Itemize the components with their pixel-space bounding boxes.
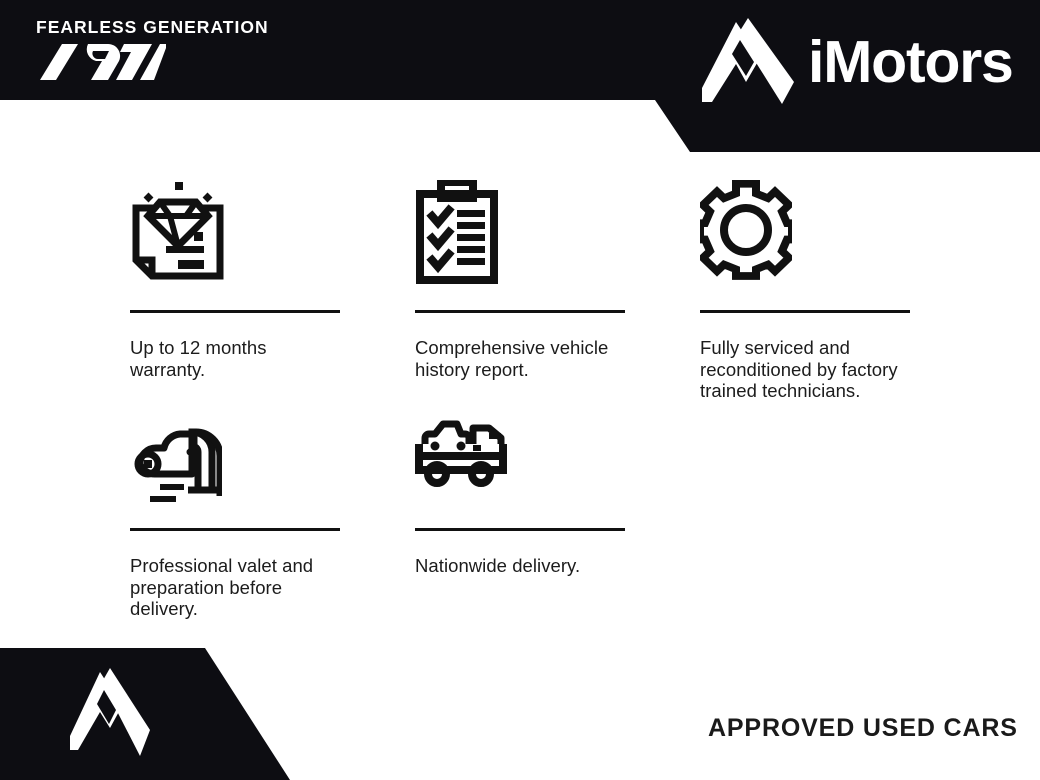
- feature-grid: Up to 12 months warranty.: [130, 180, 920, 598]
- feature-label: Professional valet and preparation befor…: [130, 555, 340, 620]
- feature-valet: Professional valet and preparation befor…: [130, 398, 340, 598]
- brand-name: iMotors: [808, 33, 1013, 92]
- feature-row: Up to 12 months warranty.: [130, 180, 920, 398]
- feature-warranty: Up to 12 months warranty.: [130, 180, 340, 398]
- feature-divider: [130, 310, 340, 313]
- feature-divider: [130, 528, 340, 531]
- vacuum-cleaner-icon: [130, 398, 340, 510]
- feature-label: Fully serviced and reconditioned by fact…: [700, 337, 910, 402]
- clipboard-checklist-icon: [415, 180, 625, 292]
- feature-label: Up to 12 months warranty.: [130, 337, 340, 380]
- footer-angled-band: [0, 648, 300, 780]
- feature-serviced: Fully serviced and reconditioned by fact…: [700, 180, 910, 398]
- feature-divider: [415, 528, 625, 531]
- feature-divider: [415, 310, 625, 313]
- footer-imotors-chevron-logo-icon: [70, 668, 150, 760]
- car-transporter-truck-icon: [415, 398, 625, 510]
- footer-tagline: APPROVED USED CARS: [708, 714, 1018, 743]
- brand-lockup[interactable]: iMotors: [702, 18, 1013, 106]
- feature-divider: [700, 310, 910, 313]
- feature-label: Nationwide delivery.: [415, 555, 625, 577]
- gear-icon: [700, 180, 910, 292]
- italic-1971-numerals-icon: [36, 40, 166, 84]
- fearless-generation-block: FEARLESS GENERATION: [36, 18, 356, 37]
- feature-label: Comprehensive vehicle history report.: [415, 337, 625, 380]
- certificate-diamond-icon: [130, 180, 340, 292]
- header-tagline: FEARLESS GENERATION: [36, 18, 356, 37]
- feature-delivery: Nationwide delivery.: [415, 398, 625, 598]
- imotors-chevron-logo-icon: [702, 18, 794, 106]
- feature-row: Professional valet and preparation befor…: [130, 398, 920, 598]
- feature-history-report: Comprehensive vehicle history report.: [415, 180, 625, 398]
- imotors-approved-used-cars-banner: FEARLESS GENERATION: [0, 0, 1040, 780]
